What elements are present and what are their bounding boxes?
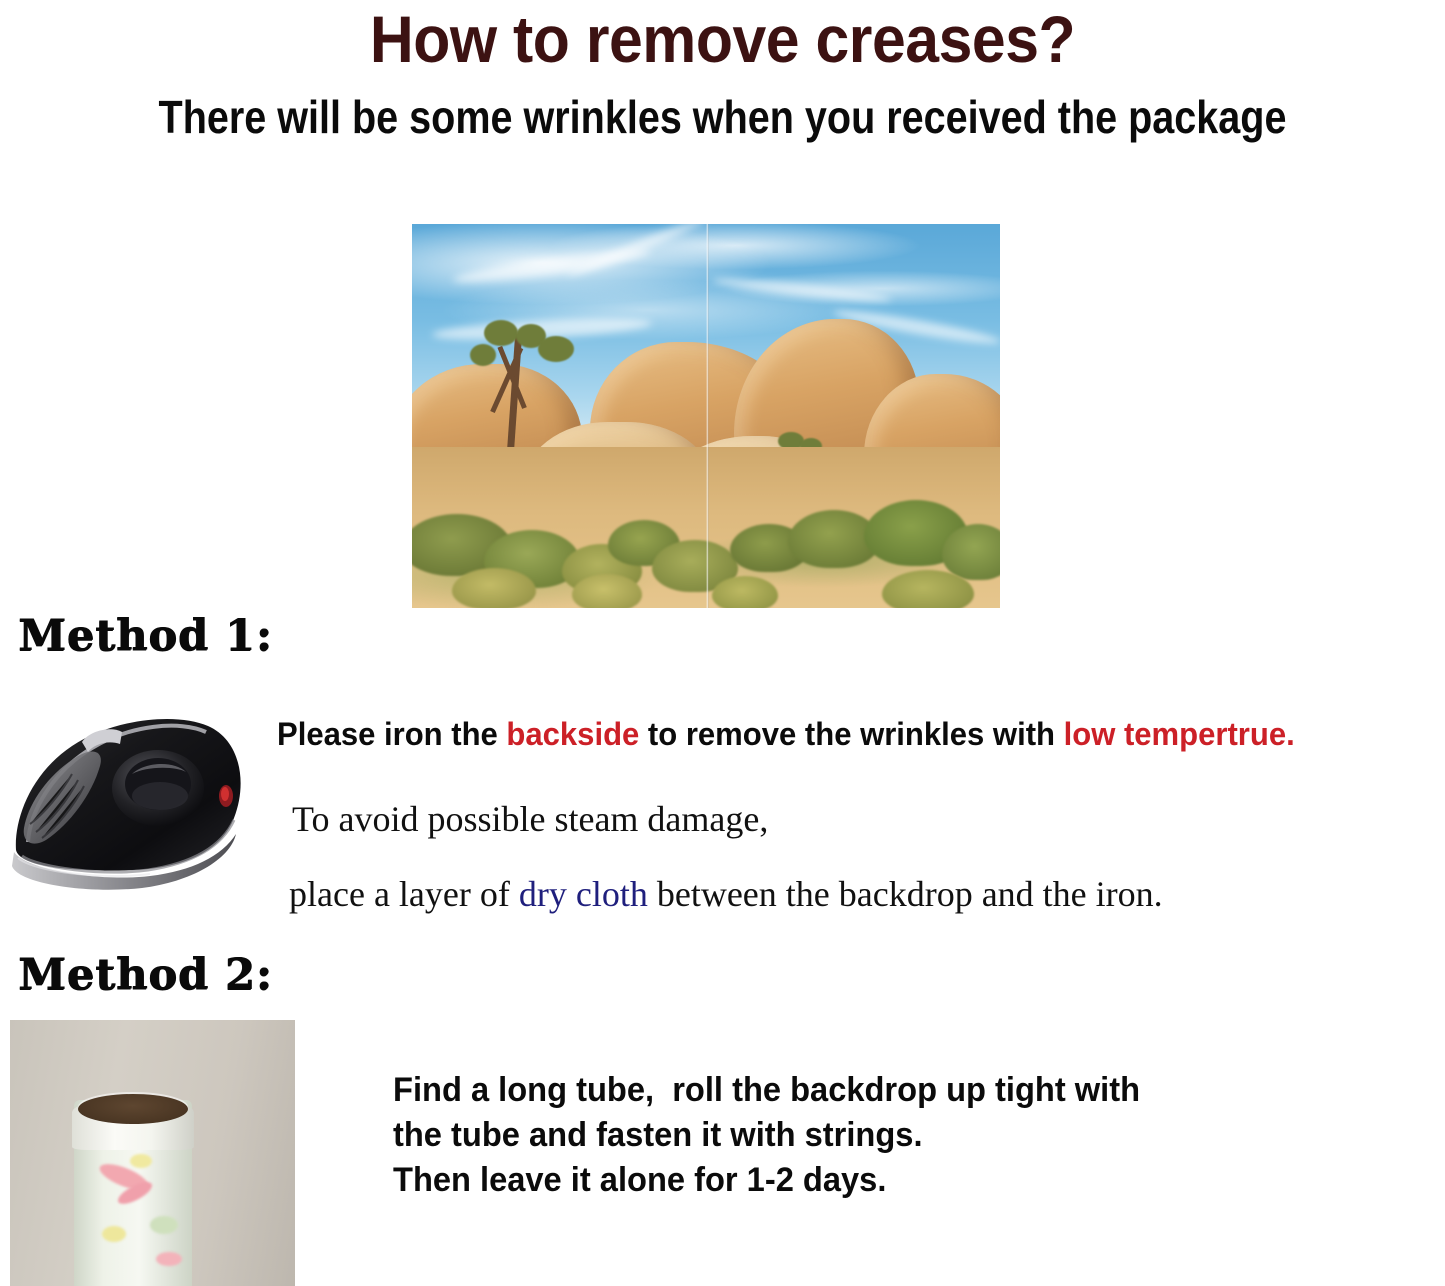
method-2-instructions: Find a long tube, roll the backdrop up t… [393, 1068, 1140, 1203]
method-2-label: Method 2: [18, 949, 273, 1001]
joshua-tree-tuft [484, 320, 518, 346]
rolled-backdrop-tube-photo [10, 1020, 295, 1286]
yellow-marking [130, 1154, 152, 1168]
m1-highlight-low-temperature: low tempertrue. [1064, 716, 1295, 752]
joshua-tree-tuft [470, 344, 496, 366]
method-1-line-1: Please iron the backside to remove the w… [277, 714, 1295, 754]
desert-shrub [712, 576, 778, 608]
desert-shrub [572, 574, 642, 608]
desert-shrub [452, 568, 536, 608]
clothes-iron-icon [8, 700, 263, 890]
joshua-tree-tuft [538, 336, 574, 362]
m1-highlight-backside: backside [506, 716, 639, 752]
green-marking [150, 1216, 178, 1234]
backdrop-photo-desert [412, 224, 1000, 608]
page-subtitle: There will be some wrinkles when you rec… [101, 88, 1344, 146]
m1-line1-part2: to remove the wrinkles with [639, 716, 1063, 752]
m1-line3-part2: between the backdrop and the iron. [648, 874, 1163, 914]
m1-line3-part1: place a layer of [289, 874, 519, 914]
page-title: How to remove creases? [58, 0, 1387, 82]
method-1-line-2: To avoid possible steam damage, [292, 797, 768, 841]
backdrop-crease-line [706, 224, 709, 608]
m1-line1-part1: Please iron the [277, 716, 506, 752]
method-1-line-3: place a layer of dry cloth between the b… [289, 872, 1163, 916]
pink-marking [156, 1252, 182, 1266]
yellow-marking [102, 1226, 126, 1242]
method-1-label: Method 1: [18, 610, 273, 662]
cardboard-tube-opening [78, 1094, 188, 1124]
m1-highlight-dry-cloth: dry cloth [519, 874, 648, 914]
